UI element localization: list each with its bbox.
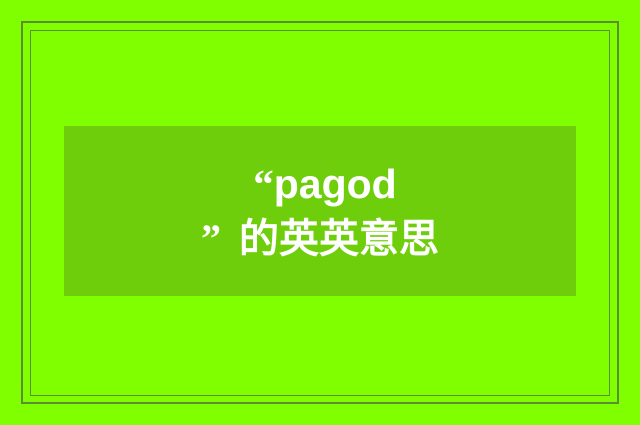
title-line-1: “pagod: [201, 164, 439, 205]
page-title: “pagod ”的英英意思: [201, 164, 439, 259]
title-suffix-cjk: 的英英意思: [239, 216, 439, 262]
title-line-2: ”的英英意思: [201, 219, 439, 259]
opening-quote-glyph: “: [253, 161, 274, 207]
page-canvas: “pagod ”的英英意思: [0, 0, 640, 425]
closing-quote-glyph: ”: [201, 216, 221, 261]
headword-term: pagod: [274, 161, 397, 207]
content-panel: “pagod ”的英英意思: [64, 126, 576, 296]
